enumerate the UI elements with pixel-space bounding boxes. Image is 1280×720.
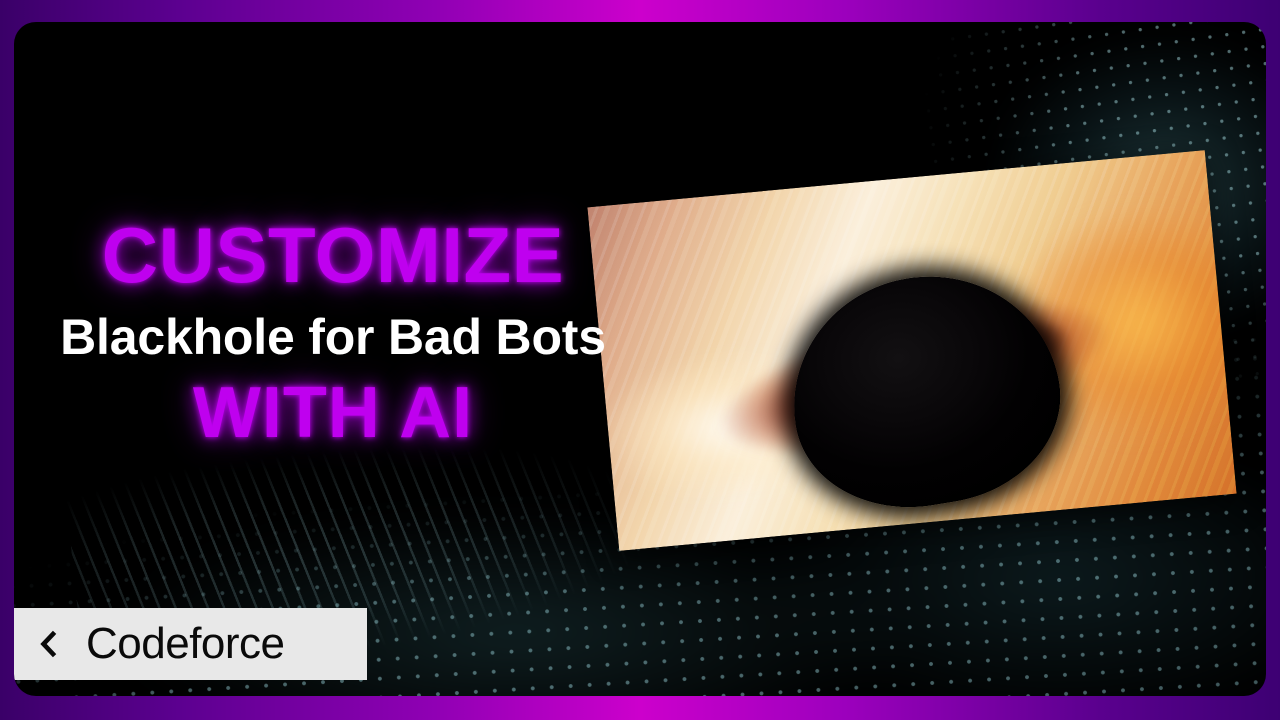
- content-panel: CUSTOMIZE Blackhole for Bad Bots WITH AI…: [14, 22, 1266, 696]
- brand-name: Codeforce: [86, 622, 285, 666]
- brand-badge[interactable]: Codeforce: [14, 608, 367, 680]
- blackhole-image: [587, 150, 1236, 551]
- chevron-left-in-dotted-circle-icon: [26, 621, 72, 667]
- headline-line-3: WITH AI: [60, 377, 606, 449]
- thumbnail-frame: CUSTOMIZE Blackhole for Bad Bots WITH AI…: [0, 0, 1280, 720]
- headline-line-1: CUSTOMIZE: [60, 218, 606, 293]
- headline-block: CUSTOMIZE Blackhole for Bad Bots WITH AI: [60, 218, 606, 449]
- headline-line-2: Blackhole for Bad Bots: [60, 309, 606, 365]
